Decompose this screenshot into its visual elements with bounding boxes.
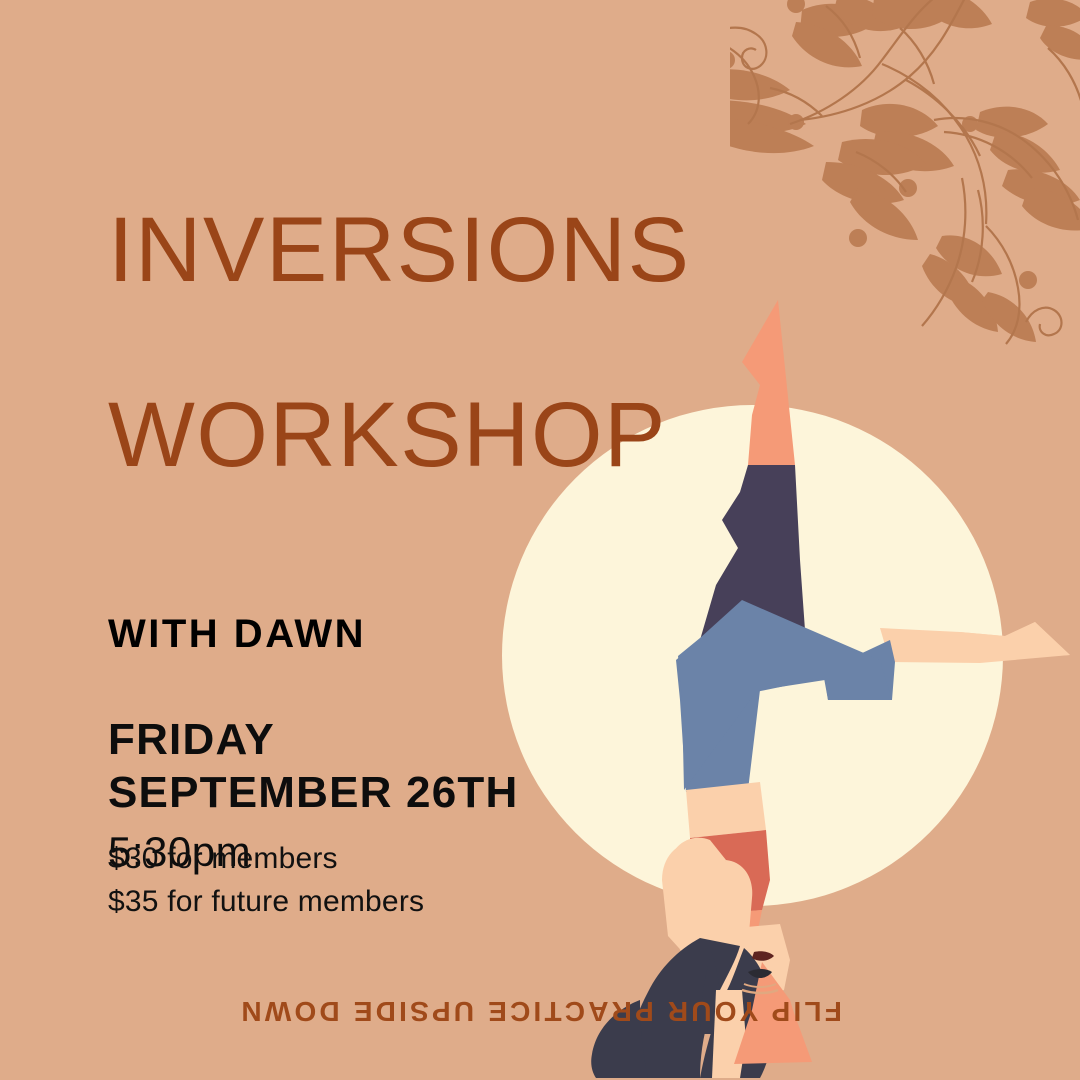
tagline-upside-down: FLIP YOUR PRACTICE UPSIDE DOWN [0, 995, 1080, 1027]
event-day: FRIDAY [108, 713, 808, 767]
price-member: $30 for members [108, 838, 748, 881]
pricing-block: $30 for members $35 for future members [108, 838, 748, 923]
page-title: INVERSIONS WORKSHOP [108, 0, 808, 568]
title-line-1: INVERSIONS [108, 88, 808, 294]
instructor-subtitle: WITH DAWN [108, 568, 808, 657]
price-future-member: $35 for future members [108, 881, 748, 924]
poster-canvas: INVERSIONS WORKSHOP WITH DAWN FRIDAY SEP… [0, 0, 1080, 1080]
title-line-2: WORKSHOP [108, 383, 808, 479]
event-date: SEPTEMBER 26TH [108, 766, 808, 820]
poster-text-block: INVERSIONS WORKSHOP WITH DAWN FRIDAY SEP… [108, 0, 808, 881]
